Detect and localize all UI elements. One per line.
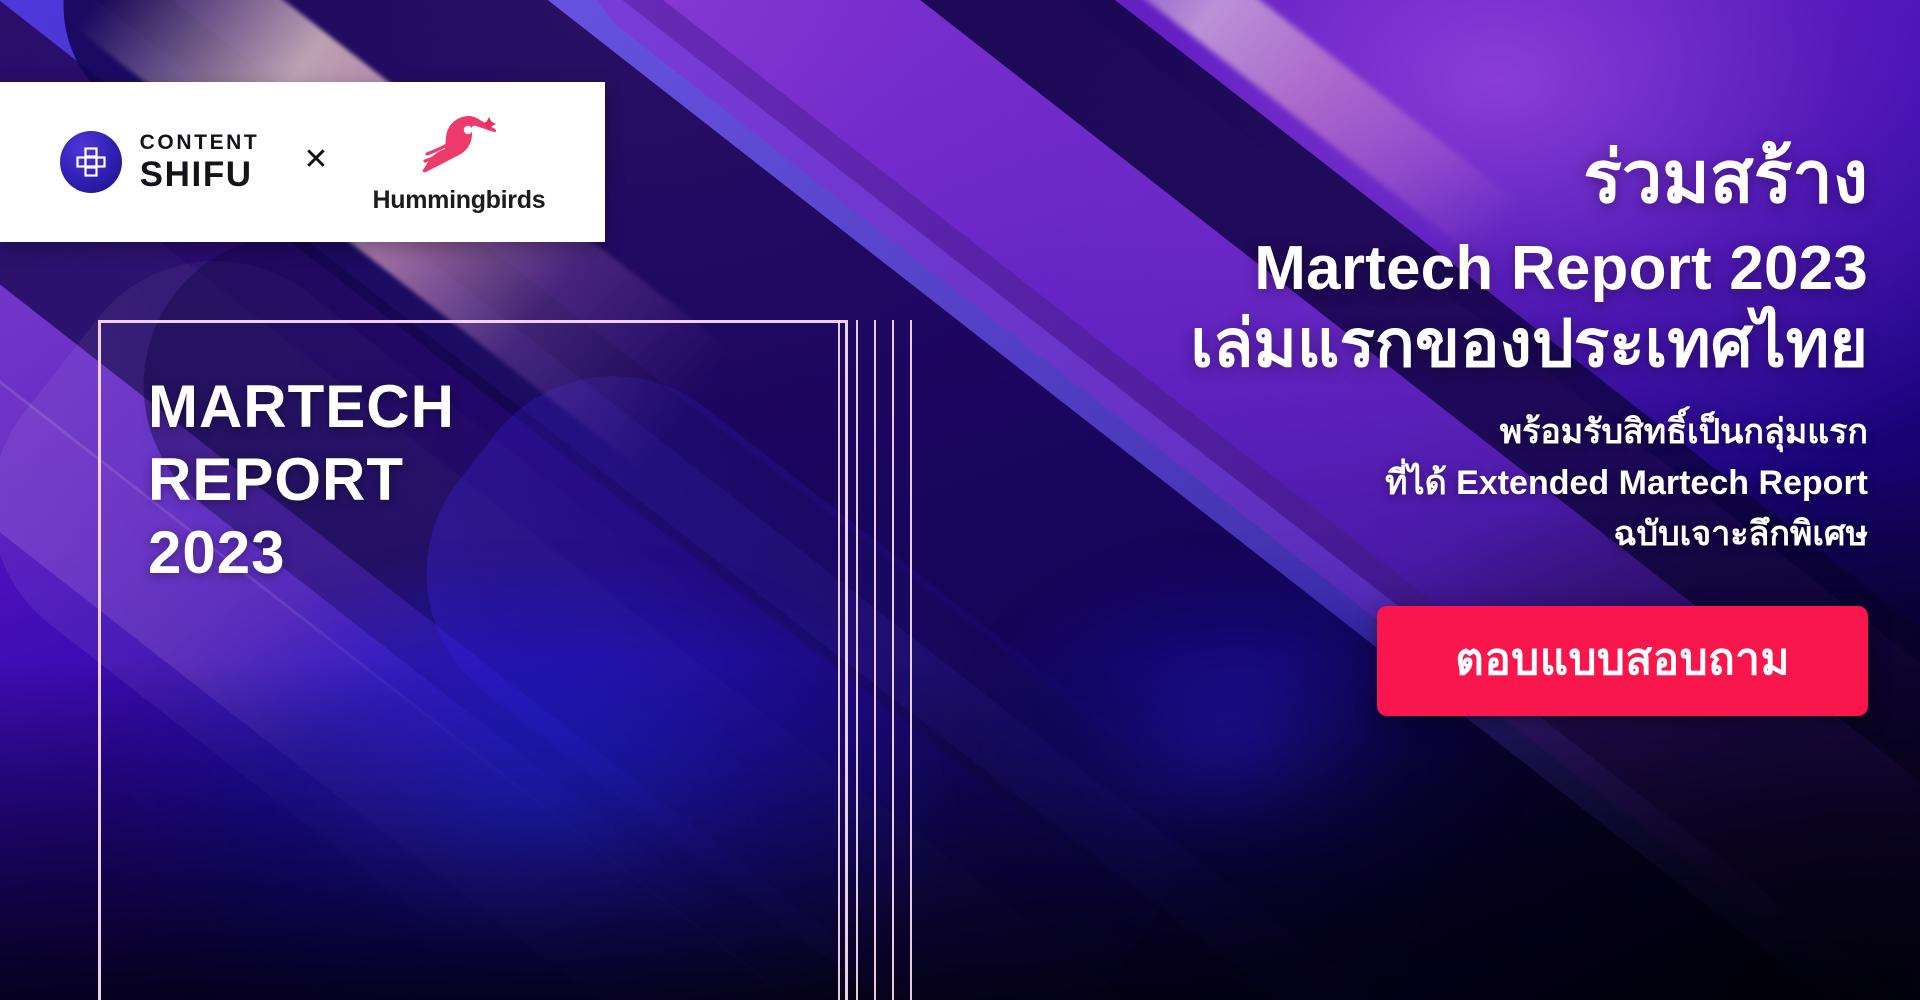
martech-report-banner: MARTECH REPORT 2023 CONTENT SHIFU <box>0 0 1920 1000</box>
headline-thai-secondary: เล่มแรกของประเทศไทย <box>1028 307 1868 381</box>
content-shifu-logo: CONTENT SHIFU <box>60 131 260 193</box>
survey-cta-button[interactable]: ตอบแบบสอบถาม <box>1377 606 1868 716</box>
hummingbirds-wordmark: Hummingbirds <box>373 186 546 215</box>
partner-logo-card: CONTENT SHIFU ✕ Hummingbirds <box>0 82 605 242</box>
vertical-line-1 <box>838 320 840 1000</box>
headline-english: Martech Report 2023 <box>1028 232 1868 305</box>
left-report-title: MARTECH REPORT 2023 <box>148 370 668 590</box>
subheadline-line-2: ที่ได้ Extended Martech Report <box>1028 458 1868 509</box>
content-shifu-wordmark: CONTENT SHIFU <box>140 132 260 192</box>
left-title-line-3: 2023 <box>148 516 668 589</box>
hummingbird-icon <box>411 110 507 180</box>
left-title-line-2: REPORT <box>148 443 668 516</box>
vertical-line-4 <box>892 320 894 1000</box>
right-content-column: ร่วมสร้าง Martech Report 2023 เล่มแรกของ… <box>1028 140 1868 716</box>
vertical-line-3 <box>874 320 876 1000</box>
headline-thai-primary: ร่วมสร้าง <box>1028 140 1868 218</box>
subheadline-block: พร้อมรับสิทธิ์เป็นกลุ่มแรก ที่ได้ Extend… <box>1028 407 1868 560</box>
subheadline-line-1: พร้อมรับสิทธิ์เป็นกลุ่มแรก <box>1028 407 1868 458</box>
shifu-word-line-1: CONTENT <box>140 132 260 153</box>
logo-separator-x-icon: ✕ <box>303 145 328 175</box>
left-title-line-1: MARTECH <box>148 370 668 443</box>
content-shifu-monogram-icon <box>60 131 122 193</box>
vertical-line-5 <box>910 320 912 1000</box>
shifu-word-line-2: SHIFU <box>140 157 260 192</box>
decorative-vertical-lines <box>838 320 914 1000</box>
hummingbirds-logo: Hummingbirds <box>373 110 546 215</box>
subheadline-line-3: ฉบับเจาะลึกพิเศษ <box>1028 509 1868 560</box>
vertical-line-2 <box>856 320 858 1000</box>
